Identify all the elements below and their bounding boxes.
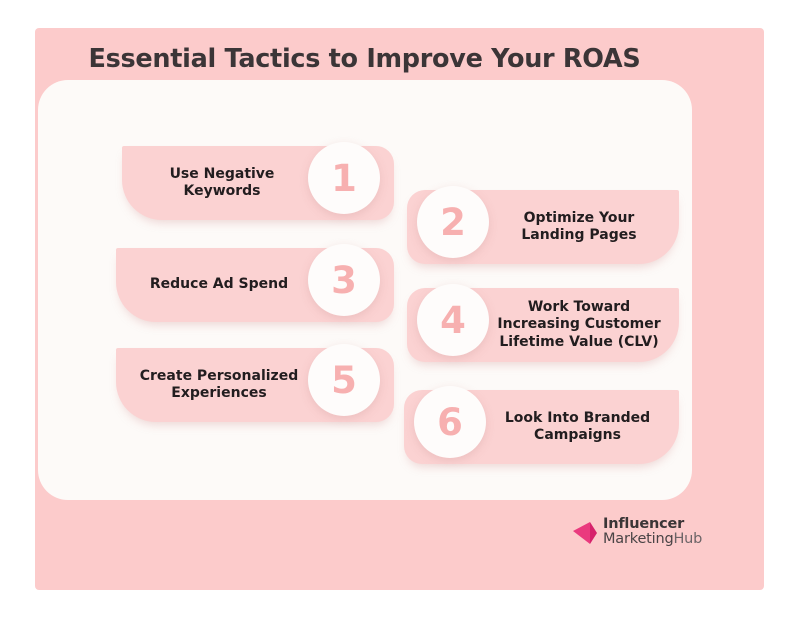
tactic-label: Look Into Branded Campaigns [490, 390, 665, 464]
tactic-number: 3 [331, 262, 357, 299]
tactics-list: Use Negative Keywords 1 Optimize Your La… [0, 0, 729, 562]
tactic-item-5[interactable]: Create Personalized Experiences 5 [116, 348, 394, 422]
logo-line-influencer: Influencer [603, 517, 702, 532]
tactic-label: Use Negative Keywords [136, 146, 308, 220]
logo-hub: Hub [673, 531, 702, 547]
tactic-number-badge: 3 [308, 244, 380, 316]
tactic-number: 6 [437, 404, 463, 441]
tactic-item-4[interactable]: Work Toward Increasing Customer Lifetime… [407, 288, 679, 362]
tactic-label: Reduce Ad Spend [130, 248, 308, 322]
logo-marketing: Marketing [603, 531, 673, 547]
tactic-item-3[interactable]: Reduce Ad Spend 3 [116, 248, 394, 322]
tactic-label: Create Personalized Experiences [130, 348, 308, 422]
tactic-number: 5 [331, 362, 357, 399]
tactic-item-6[interactable]: Look Into Branded Campaigns 6 [404, 390, 679, 464]
tactic-item-1[interactable]: Use Negative Keywords 1 [122, 146, 394, 220]
tactic-number-badge: 5 [308, 344, 380, 416]
brand-logo[interactable]: Influencer MarketingHub [573, 517, 702, 547]
tactic-number: 2 [440, 204, 466, 241]
tactic-label: Optimize Your Landing Pages [493, 190, 665, 264]
logo-line-marketinghub: MarketingHub [603, 532, 702, 547]
infographic-root: Essential Tactics to Improve Your ROAS U… [0, 0, 800, 631]
left-triangle-icon [573, 520, 599, 546]
logo-wordmark: Influencer MarketingHub [603, 517, 702, 547]
tactic-number-badge: 6 [414, 386, 486, 458]
tactic-number-badge: 4 [417, 284, 489, 356]
tactic-number-badge: 2 [417, 186, 489, 258]
tactic-label: Work Toward Increasing Customer Lifetime… [493, 288, 665, 362]
tactic-number-badge: 1 [308, 142, 380, 214]
tactic-number: 1 [331, 160, 357, 197]
tactic-item-2[interactable]: Optimize Your Landing Pages 2 [407, 190, 679, 264]
tactic-number: 4 [440, 302, 466, 339]
